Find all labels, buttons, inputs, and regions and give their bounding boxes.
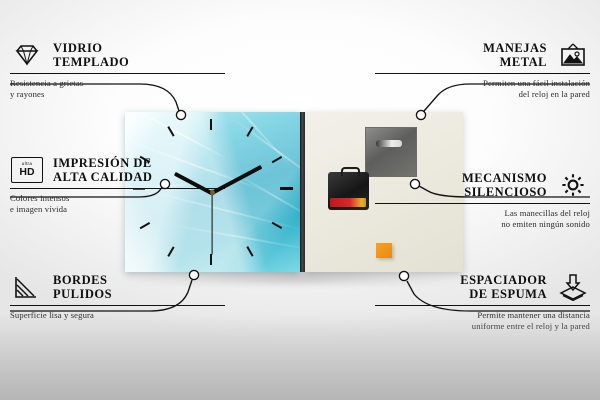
callout-desc-line2: uniforme entre el reloj y la pared (375, 321, 590, 332)
callout-bordes-pulidos: BORDES PULIDOS Superficie lisa y segura (10, 272, 225, 321)
mechanism-tab (341, 167, 360, 176)
callout-title-line1: VIDRIO (53, 41, 129, 56)
callout-title-line1: IMPRESIÓN DE (53, 156, 152, 171)
clock-mechanism (328, 172, 369, 210)
callout-title-line2: ALTA CALIDAD (53, 170, 152, 185)
callout-title-line1: BORDES (53, 273, 112, 288)
callout-rule (10, 305, 225, 306)
callout-desc-line1: Resistencia a grietas (10, 78, 225, 89)
callout-desc-line1: Las manecillas del reloj (375, 208, 590, 219)
callout-rule (10, 188, 225, 189)
callout-title-line1: MECANISMO (462, 171, 547, 186)
callout-vidrio-templado: VIDRIO TEMPLADO Resistencia a grietas y … (10, 40, 225, 100)
hanger-slot (376, 140, 402, 147)
foam-spacer (376, 243, 392, 258)
callout-title-line2: PULIDOS (53, 287, 112, 302)
polished-edges-icon (10, 272, 44, 302)
callout-title-line2: DE ESPUMA (460, 287, 547, 302)
callout-rule (375, 203, 590, 204)
callout-title-line1: ESPACIADOR (460, 273, 547, 288)
clock-tick (246, 246, 253, 256)
callout-desc-line2: e imagen vívida (10, 204, 225, 215)
battery (330, 198, 366, 207)
callout-title-line1: MANEJAS (483, 41, 547, 56)
infographic-canvas: VIDRIO TEMPLADO Resistencia a grietas y … (0, 0, 600, 400)
callout-desc-line2: y rayones (10, 89, 225, 100)
callout-desc-line1: Colores intensos (10, 193, 225, 204)
clock-tick (272, 156, 282, 163)
callout-espaciador-espuma: ESPACIADOR DE ESPUMA Permite mantener un… (375, 272, 590, 332)
clock-tick (280, 187, 293, 190)
picture-frame-icon (556, 40, 590, 70)
callout-rule (375, 305, 590, 306)
clock-tick (167, 246, 174, 256)
diamond-icon (10, 40, 44, 70)
callout-manejas-metal: MANEJAS METAL Permiten una fácil instala… (375, 40, 590, 100)
clock-tick (210, 254, 212, 265)
callout-desc-line1: Permite mantener una distancia (375, 310, 590, 321)
callout-rule (10, 73, 225, 74)
callout-title-line2: METAL (483, 55, 547, 70)
clock-tick (210, 119, 212, 130)
callout-desc-line2: no emiten ningún sonido (375, 219, 590, 230)
callout-title-line2: SILENCIOSO (462, 185, 547, 200)
callout-desc-line1: Permiten una fácil instalación (375, 78, 590, 89)
ultra-hd-icon: ultra HD (10, 155, 44, 185)
callout-desc-line2: del reloj en la pared (375, 89, 590, 100)
callout-mecanismo-silencioso: MECANISMO SILENCIOSO Las manecillas del … (375, 170, 590, 230)
callout-desc-line1: Superficie lisa y segura (10, 310, 225, 321)
gear-icon (556, 170, 590, 200)
clock-tick (140, 222, 150, 229)
callout-title-line2: TEMPLADO (53, 55, 129, 70)
callout-rule (375, 73, 590, 74)
ultra-hd-large-text: HD (19, 167, 34, 178)
press-down-layers-icon (556, 272, 590, 302)
callout-impresion-alta-calidad: ultra HD IMPRESIÓN DE ALTA CALIDAD Color… (10, 155, 225, 215)
